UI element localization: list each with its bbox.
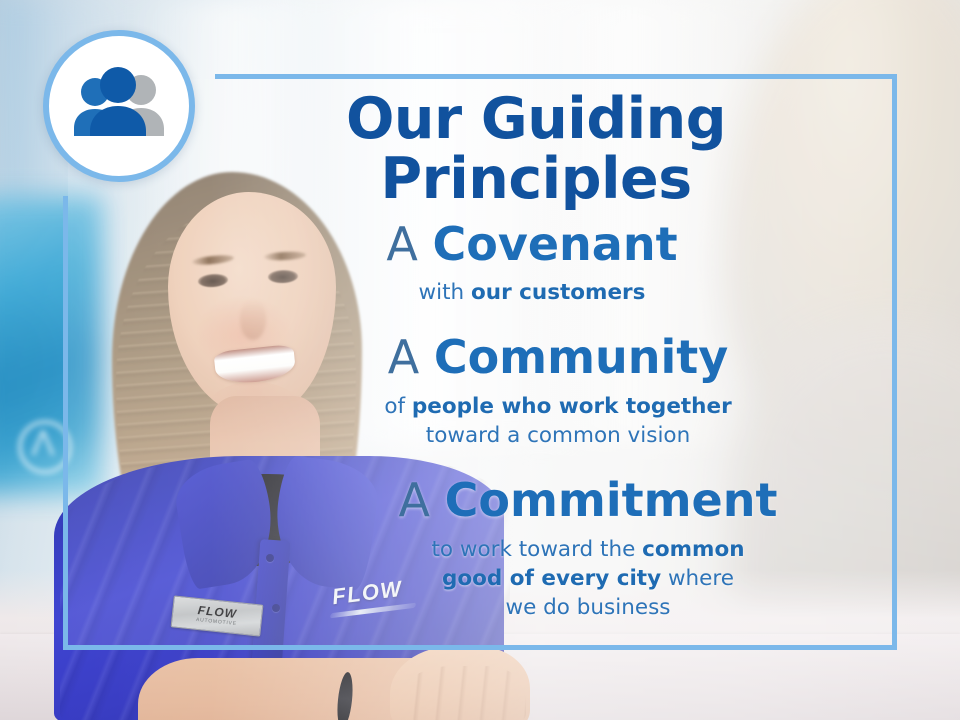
principle-title-commitment: A Commitment <box>252 476 924 526</box>
principle-sub-covenant: with our customers <box>302 278 762 307</box>
guiding-principles-graphic: FLOW AUTOMOTIVE FLOW <box>0 0 960 720</box>
principle-article: A <box>388 330 419 384</box>
principle-community: A Community of people who work together … <box>222 333 894 450</box>
text-column: Our Guiding Principles A Covenant with o… <box>200 90 872 622</box>
principle-sub-commitment: to work toward the common good of every … <box>373 535 803 622</box>
people-group-icon <box>67 65 171 147</box>
sub-line: good of every city where <box>373 564 803 593</box>
principle-covenant: A Covenant with our customers <box>196 220 868 308</box>
principle-article: A <box>399 473 430 527</box>
sub-line: to work toward the common <box>373 535 803 564</box>
frame-border-top <box>215 74 897 79</box>
principle-sub-community: of people who work together toward a com… <box>298 392 818 450</box>
principle-commitment: A Commitment to work toward the common g… <box>252 476 924 622</box>
people-group-badge <box>43 30 195 182</box>
page-title: Our Guiding Principles <box>200 90 872 210</box>
principle-keyword: Community <box>434 330 728 384</box>
fingers <box>402 666 526 720</box>
sub-line: we do business <box>373 593 803 622</box>
sub-line: with our customers <box>302 278 762 307</box>
principle-keyword: Commitment <box>445 473 778 527</box>
principle-title-community: A Community <box>222 333 894 383</box>
principle-article: A <box>386 217 417 271</box>
principle-keyword: Covenant <box>433 217 678 271</box>
frame-border-left <box>63 196 68 650</box>
frame-border-bottom <box>63 645 897 650</box>
sub-line: of people who work together <box>298 392 818 421</box>
principle-title-covenant: A Covenant <box>196 220 868 270</box>
sub-line: toward a common vision <box>298 421 818 450</box>
